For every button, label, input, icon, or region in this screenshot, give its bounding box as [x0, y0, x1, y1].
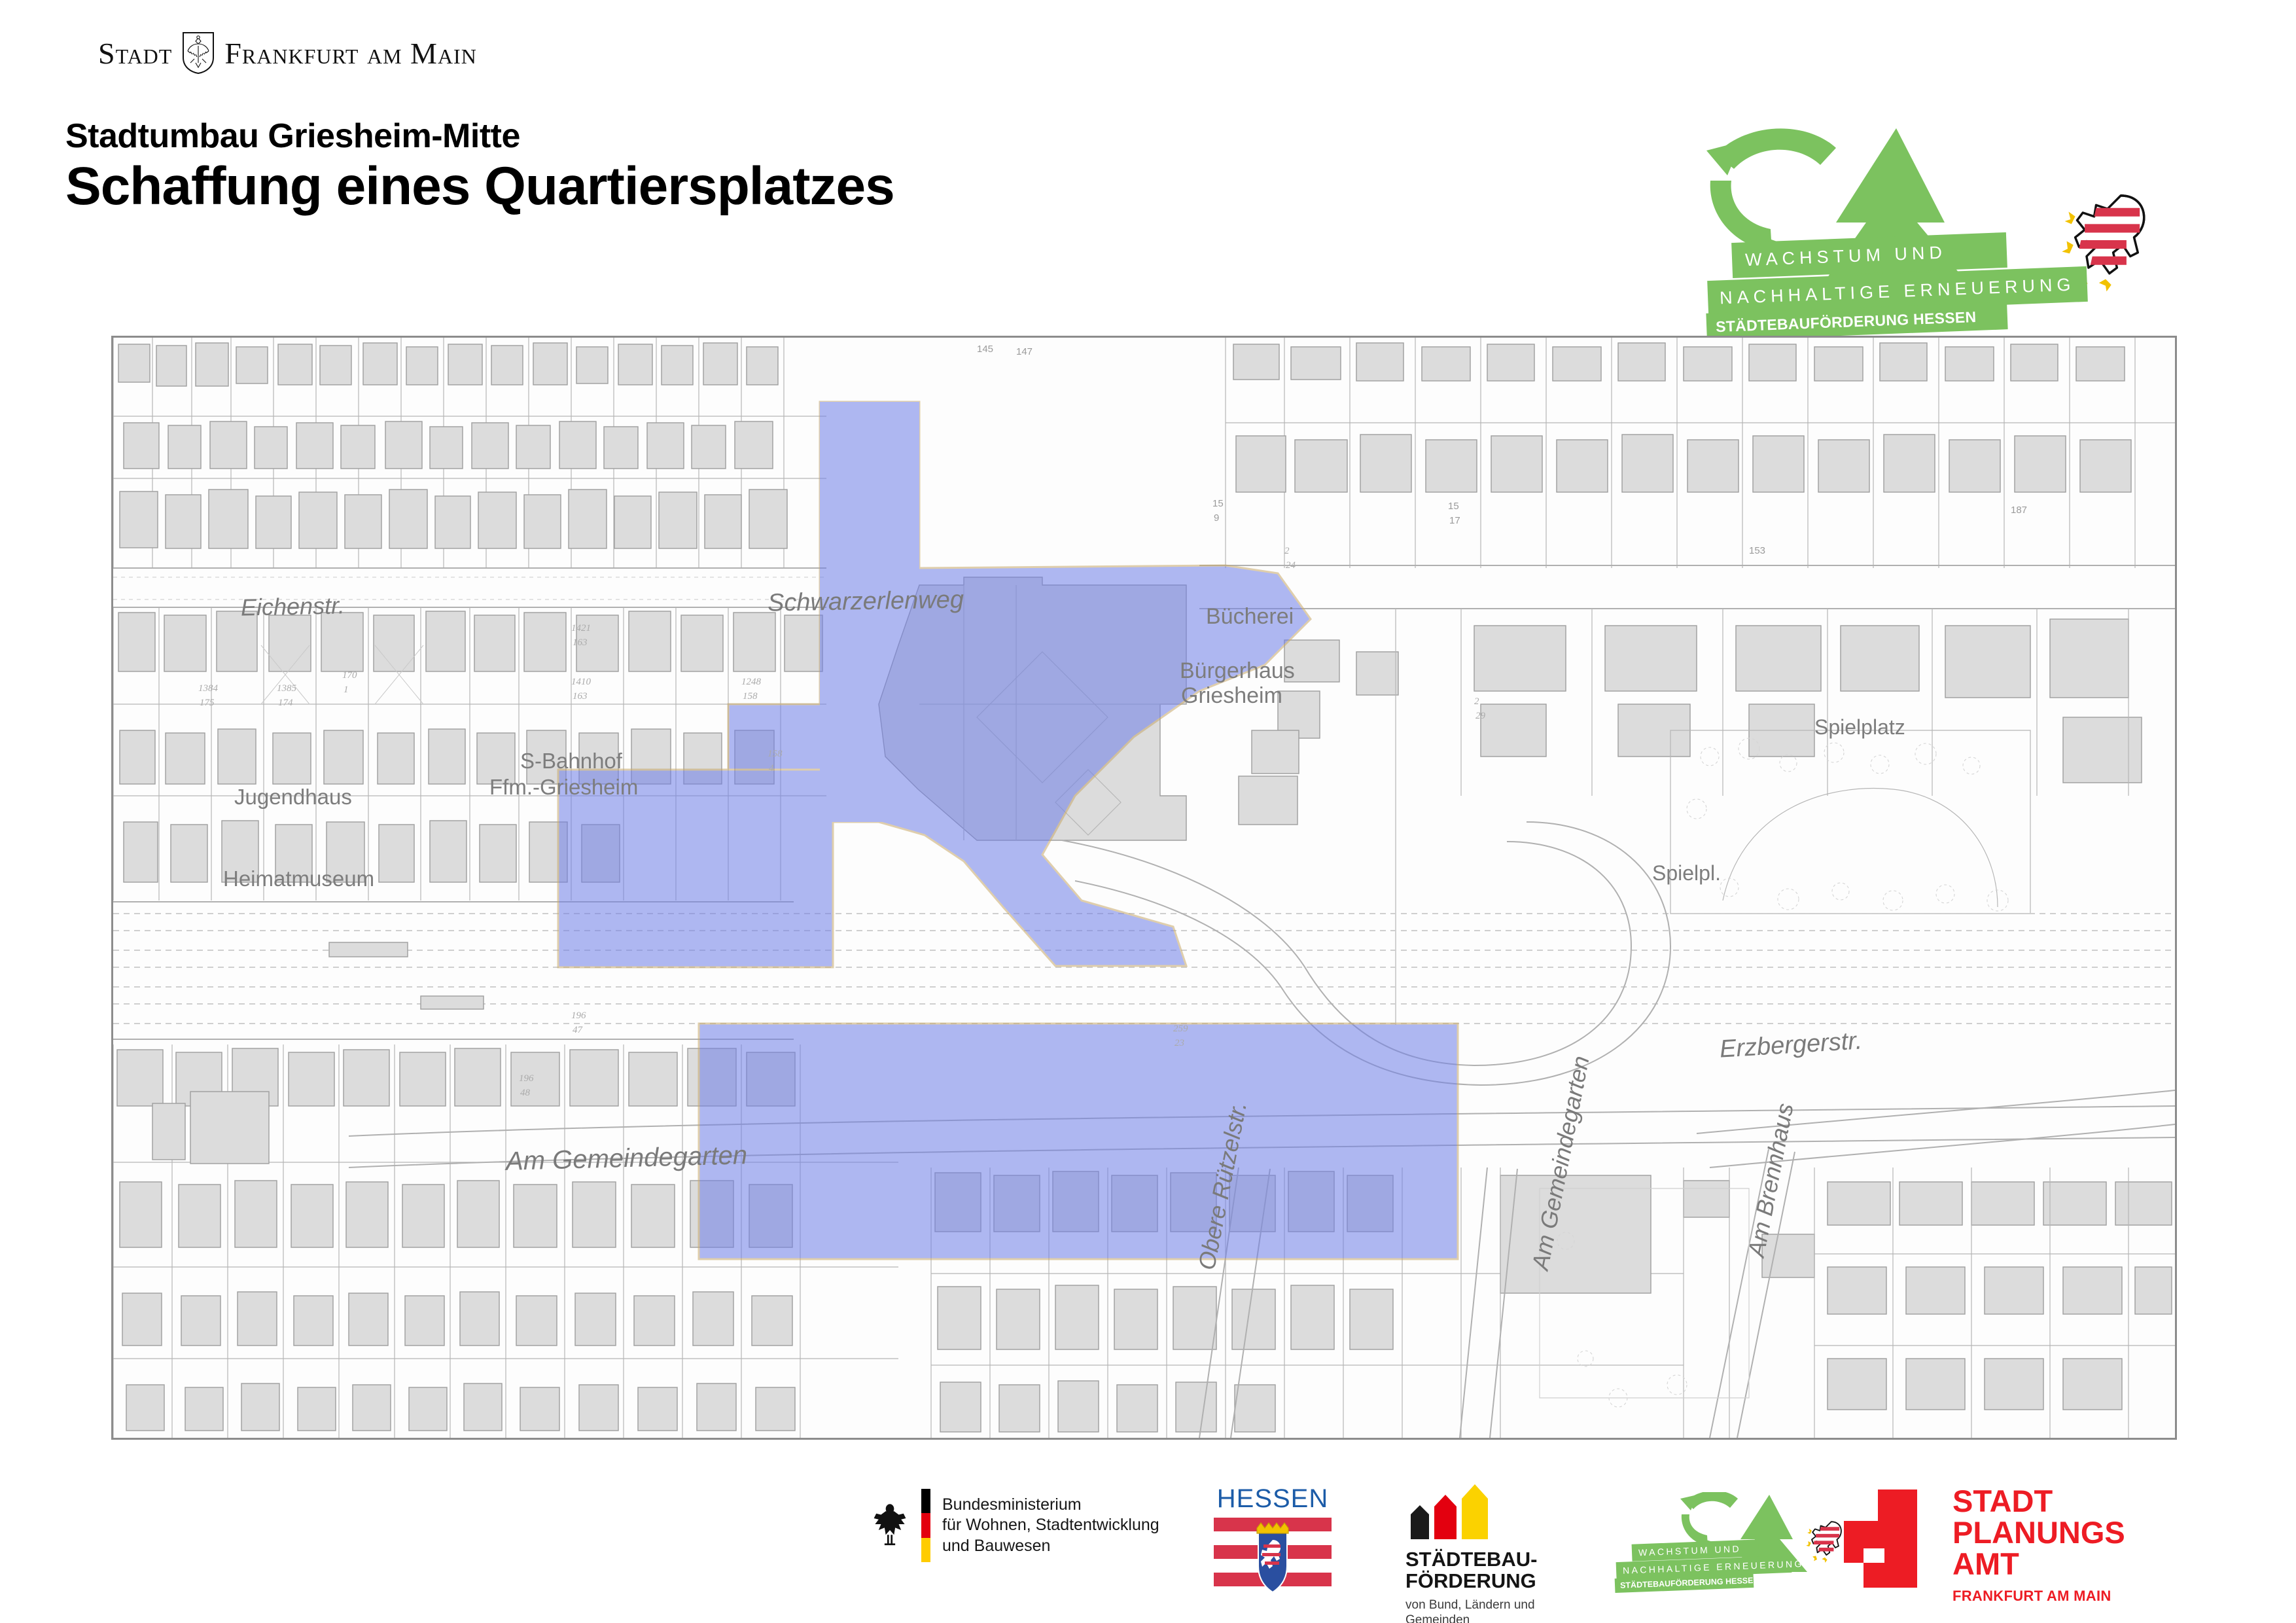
svg-text:259: 259	[1173, 1024, 1188, 1034]
hessen-lion-crest-icon	[1257, 1523, 1288, 1592]
svg-text:47: 47	[573, 1025, 584, 1035]
highlight-area-south	[699, 1024, 1458, 1259]
hessen-wordmark: HESSEN	[1214, 1484, 1332, 1514]
svg-text:158: 158	[768, 749, 783, 759]
poi-label-s-bahnhof: S-Bahnhof	[520, 749, 622, 774]
spa-line2: PLANUNGS	[1952, 1517, 2125, 1548]
bmwsb-line3: und Bauwesen	[942, 1536, 1159, 1556]
cadastral-map[interactable]: .bl { fill:#dcdcdc; stroke:#9e9e9e; stro…	[111, 336, 2177, 1440]
svg-text:15: 15	[1448, 501, 1459, 512]
svg-text:1421: 1421	[571, 623, 591, 633]
spa-line4: FRANKFURT AM MAIN	[1952, 1588, 2125, 1605]
city-wordmark-left: Stadt	[98, 36, 172, 71]
svg-text:163: 163	[573, 637, 588, 648]
svg-text:196: 196	[571, 1010, 586, 1021]
hessen-lion-icon	[1806, 1522, 1841, 1563]
hessen-logo: HESSEN	[1214, 1484, 1332, 1601]
hessen-flag-crest	[1214, 1514, 1332, 1597]
poi-label-buergerhaus: Bürgerhaus	[1180, 658, 1295, 684]
svg-text:48: 48	[520, 1088, 531, 1098]
svg-text:9: 9	[1214, 512, 1219, 524]
street-label-eichenstr: Eichenstr.	[241, 592, 345, 621]
svg-text:147: 147	[1016, 346, 1033, 357]
svg-text:145: 145	[977, 344, 993, 355]
spa-line3: AMT	[1952, 1548, 2125, 1580]
map-canvas: .bl { fill:#dcdcdc; stroke:#9e9e9e; stro…	[113, 338, 2175, 1438]
project-subtitle: Stadtumbau Griesheim-Mitte	[65, 116, 520, 156]
city-wordmark-right: Frankfurt am Main	[224, 36, 476, 71]
svg-text:23: 23	[1174, 1038, 1184, 1048]
bundesadler-icon	[870, 1499, 910, 1552]
svg-text:24: 24	[1286, 560, 1296, 571]
svg-text:1410: 1410	[571, 677, 592, 687]
stadtplanungsamt-mark-icon	[1844, 1486, 1930, 1590]
sbf-sub2: Gemeinden	[1405, 1613, 1576, 1623]
city-wordmark: Stadt Frankfurt am Main	[98, 31, 477, 75]
frankfurt-eagle-shield-icon	[181, 31, 215, 75]
bmwsb-line2: für Wohnen, Stadtentwicklung	[942, 1515, 1159, 1535]
svg-text:174: 174	[278, 698, 293, 708]
poi-label-jugendhaus: Jugendhaus	[234, 785, 352, 810]
staedtebaufoerderung-logo: STÄDTEBAU- FÖRDERUNG von Bund, Ländern u…	[1405, 1487, 1576, 1623]
spa-line1: STADT	[1952, 1486, 2125, 1517]
sbf-line2: FÖRDERUNG	[1405, 1570, 1576, 1592]
poi-label-heimatmuseum: Heimatmuseum	[223, 866, 374, 891]
three-houses-icon	[1408, 1487, 1576, 1539]
poi-label-spielplatz: Spielplatz	[1814, 715, 1905, 740]
svg-text:17: 17	[1449, 515, 1460, 526]
svg-text:158: 158	[743, 691, 758, 702]
sbf-sub1: von Bund, Ländern und	[1405, 1597, 1576, 1613]
svg-text:187: 187	[2011, 505, 2027, 516]
page-title: Schaffung eines Quartiersplatzes	[65, 156, 894, 217]
poi-label-buecherei: Bücherei	[1206, 604, 1294, 630]
sbf-line1: STÄDTEBAU-	[1405, 1548, 1576, 1570]
svg-text:2: 2	[1474, 696, 1479, 707]
stadtplanungsamt-wordmark: STADT PLANUNGS AMT FRANKFURT AM MAIN	[1952, 1486, 2125, 1605]
svg-text:1385: 1385	[277, 683, 297, 694]
svg-text:196: 196	[519, 1073, 534, 1084]
footer-logo-bar: Bundesministerium für Wohnen, Stadtentwi…	[0, 1472, 2296, 1610]
svg-text:4: 4	[769, 763, 774, 774]
svg-text:1248: 1248	[741, 677, 762, 687]
svg-text:170: 170	[342, 670, 357, 681]
svg-text:29: 29	[1475, 711, 1486, 721]
poi-label-ffm-griesheim: Ffm.-Griesheim	[489, 775, 638, 800]
svg-text:163: 163	[573, 691, 588, 702]
poi-label-spielpl: Spielpl.	[1652, 861, 1721, 885]
german-flag-bars	[921, 1489, 930, 1562]
poi-label-griesheim: Griesheim	[1181, 683, 1282, 709]
bmwsb-logo: Bundesministerium für Wohnen, Stadtentwi…	[870, 1489, 1159, 1562]
svg-text:175: 175	[200, 698, 215, 708]
svg-text:153: 153	[1749, 545, 1765, 556]
svg-text:15: 15	[1212, 498, 1224, 509]
svg-text:1384: 1384	[198, 683, 219, 694]
svg-text:1: 1	[344, 685, 349, 695]
street-label-schwarzerlenweg: Schwarzerlenweg	[768, 586, 964, 617]
poster-page: Stadt Frankfurt am Main Stadtumbau Gries…	[0, 0, 2296, 1623]
bmwsb-line1: Bundesministerium	[942, 1495, 1159, 1515]
bmwsb-wordmark: Bundesministerium für Wohnen, Stadtentwi…	[942, 1495, 1159, 1556]
stadtplanungsamt-logo: STADT PLANUNGS AMT FRANKFURT AM MAIN	[1844, 1486, 2125, 1605]
svg-text:2: 2	[1284, 546, 1290, 556]
